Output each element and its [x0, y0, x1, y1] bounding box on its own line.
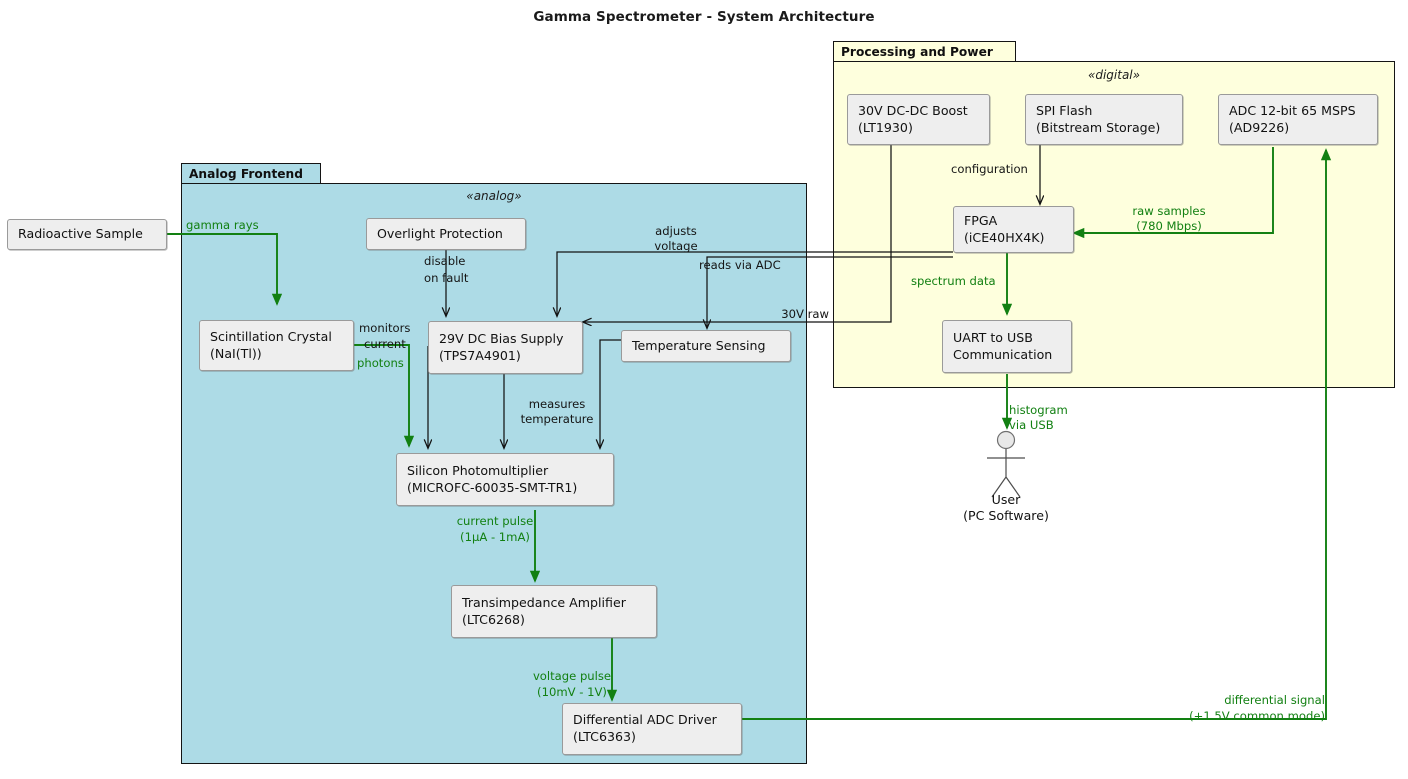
node-fpga[interactable]: FPGA (iCE40HX4K) [953, 206, 1074, 253]
actor-label-user: User (PC Software) [906, 492, 1106, 525]
edge-label-raw-samples-rate: (780 Mbps) [1108, 219, 1230, 233]
edge-label-current-pulse: current pulse [435, 514, 555, 528]
edge-label-raw-samples: raw samples [1108, 204, 1230, 218]
node-label-uart: UART to USB [953, 330, 1061, 347]
edge-label-voltage: voltage [636, 239, 716, 253]
node-sublabel-tia: (LTC6268) [462, 612, 646, 629]
edge-label-reads-via-adc: reads via ADC [699, 258, 781, 272]
node-sublabel-uart: Communication [953, 347, 1061, 364]
node-label-boost: 30V DC-DC Boost [858, 103, 979, 120]
node-overlight-protection[interactable]: Overlight Protection [366, 218, 526, 250]
node-scintillation-crystal[interactable]: Scintillation Crystal (NaI(Tl)) [199, 320, 354, 371]
edge-label-measures: measures [497, 397, 617, 411]
edge-label-spectrum-data: spectrum data [911, 274, 996, 288]
node-sublabel-boost: (LT1930) [858, 120, 979, 137]
edge-label-adjusts: adjusts [636, 224, 716, 238]
edge-label-monitors: monitors [359, 321, 410, 335]
edge-label-via-usb: via USB [1009, 418, 1054, 432]
edge-label-configuration: configuration [951, 162, 1028, 176]
edge-label-photons: photons [357, 356, 404, 370]
node-sublabel-adc-driver: (LTC6363) [573, 729, 731, 746]
node-sublabel-bias-supply: (TPS7A4901) [439, 348, 572, 365]
node-label-scintillation-crystal: Scintillation Crystal [210, 329, 343, 346]
edge-label-30v-raw: 30V raw [700, 307, 829, 321]
node-label-adc-driver: Differential ADC Driver [573, 712, 731, 729]
actor-name-line1: User [906, 492, 1106, 508]
edge-label-current: current [364, 337, 406, 351]
node-label-overlight-protection: Overlight Protection [377, 226, 515, 243]
node-temperature-sensing[interactable]: Temperature Sensing [621, 330, 791, 362]
node-adc-driver[interactable]: Differential ADC Driver (LTC6363) [562, 703, 742, 755]
architecture-diagram: Gamma Spectrometer - System Architecture… [0, 0, 1408, 779]
connector-layer [0, 0, 1408, 779]
node-boost[interactable]: 30V DC-DC Boost (LT1930) [847, 94, 990, 145]
node-sublabel-scintillation-crystal: (NaI(Tl)) [210, 346, 343, 363]
node-spi-flash[interactable]: SPI Flash (Bitstream Storage) [1025, 94, 1183, 145]
edge-label-voltage-pulse-range: (10mV - 1V) [512, 685, 632, 699]
edge-label-disable: disable [424, 254, 465, 268]
node-uart[interactable]: UART to USB Communication [942, 320, 1072, 373]
node-label-radioactive-sample: Radioactive Sample [18, 226, 156, 243]
node-bias-supply[interactable]: 29V DC Bias Supply (TPS7A4901) [428, 321, 583, 374]
node-sublabel-sipm: (MICROFC-60035-SMT-TR1) [407, 480, 603, 497]
node-sublabel-fpga: (iCE40HX4K) [964, 230, 1063, 247]
node-label-temperature-sensing: Temperature Sensing [632, 338, 780, 355]
node-tia[interactable]: Transimpedance Amplifier (LTC6268) [451, 585, 657, 638]
node-label-fpga: FPGA [964, 213, 1063, 230]
node-sublabel-spi-flash: (Bitstream Storage) [1036, 120, 1172, 137]
node-label-spi-flash: SPI Flash [1036, 103, 1172, 120]
node-label-bias-supply: 29V DC Bias Supply [439, 331, 572, 348]
edge-label-differential-signal: differential signal [1106, 693, 1325, 707]
node-label-adc: ADC 12-bit 65 MSPS [1229, 103, 1367, 120]
edge-gamma-rays [167, 234, 277, 304]
node-adc[interactable]: ADC 12-bit 65 MSPS (AD9226) [1218, 94, 1378, 145]
node-label-sipm: Silicon Photomultiplier [407, 463, 603, 480]
node-label-tia: Transimpedance Amplifier [462, 595, 646, 612]
edge-measures-temperature [600, 340, 621, 448]
edge-label-voltage-pulse: voltage pulse [512, 669, 632, 683]
edge-30v-raw [583, 145, 891, 322]
edge-label-differential-mode: (+1.5V common mode) [1106, 709, 1325, 723]
edge-label-gamma-rays: gamma rays [186, 218, 259, 232]
node-sipm[interactable]: Silicon Photomultiplier (MICROFC-60035-S… [396, 453, 614, 506]
actor-name-line2: (PC Software) [906, 508, 1106, 524]
node-sublabel-adc: (AD9226) [1229, 120, 1367, 137]
edge-label-histogram: histogram [1009, 403, 1068, 417]
actor-user-figure [987, 432, 1025, 498]
edge-label-temperature: temperature [497, 412, 617, 426]
edge-label-current-pulse-range: (1µA - 1mA) [435, 530, 555, 544]
node-radioactive-sample[interactable]: Radioactive Sample [7, 219, 167, 250]
edge-label-on-fault: on fault [424, 271, 468, 285]
